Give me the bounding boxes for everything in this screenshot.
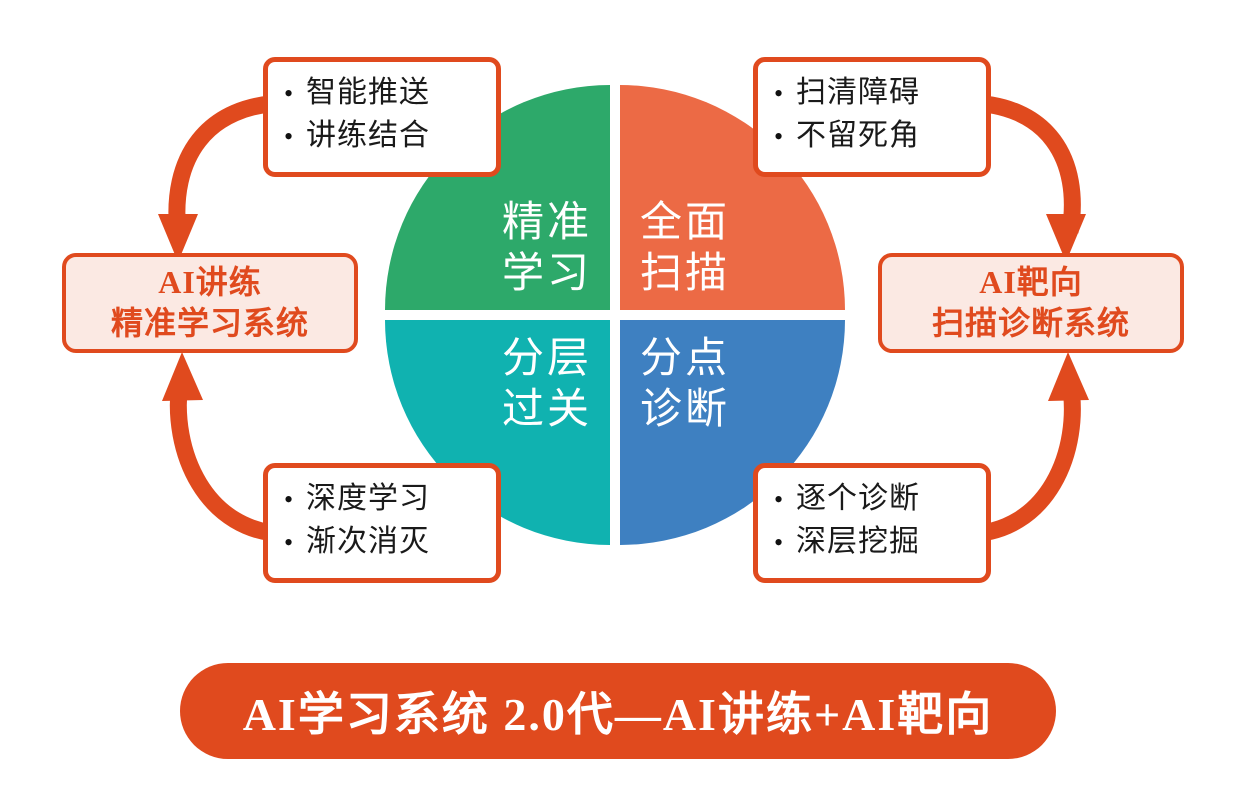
list-item: 渐次消灭 <box>284 521 482 564</box>
list-item: 深层挖掘 <box>774 521 972 564</box>
panel-left-line1: AI讲练 <box>158 262 262 303</box>
callout-bottom-left-list: 深度学习 渐次消灭 <box>284 478 482 563</box>
quadrant-bottom-right-label: 分点 诊断 <box>640 334 730 436</box>
list-item: 扫清障碍 <box>774 72 972 115</box>
title-banner-text: AI学习系统 2.0代—AI讲练+AI靶向 <box>243 678 994 744</box>
panel-right-line1: AI靶向 <box>979 262 1083 303</box>
list-item: 讲练结合 <box>284 115 482 158</box>
callout-bottom-right-list: 逐个诊断 深层挖掘 <box>774 478 972 563</box>
quadrant-top-left-label: 精准 学习 <box>502 198 592 300</box>
callout-top-left[interactable]: 智能推送 讲练结合 <box>263 57 501 177</box>
list-item: 逐个诊断 <box>774 478 972 521</box>
callout-top-right[interactable]: 扫清障碍 不留死角 <box>753 57 991 177</box>
callout-bottom-right[interactable]: 逐个诊断 深层挖掘 <box>753 463 991 583</box>
panel-right-line2: 扫描诊断系统 <box>932 303 1130 344</box>
title-banner: AI学习系统 2.0代—AI讲练+AI靶向 <box>180 663 1056 759</box>
diagram-canvas: 精准 学习 全面 扫描 分层 过关 分点 诊断 智能推送 讲练结合 扫清障碍 不… <box>0 0 1235 812</box>
callout-bottom-left[interactable]: 深度学习 渐次消灭 <box>263 463 501 583</box>
callout-top-left-list: 智能推送 讲练结合 <box>284 72 482 157</box>
list-item: 深度学习 <box>284 478 482 521</box>
quadrant-top-right-label: 全面 扫描 <box>640 198 730 300</box>
list-item: 不留死角 <box>774 115 972 158</box>
callout-top-right-list: 扫清障碍 不留死角 <box>774 72 972 157</box>
panel-ai-targeting-system[interactable]: AI靶向 扫描诊断系统 <box>878 253 1184 353</box>
list-item: 智能推送 <box>284 72 482 115</box>
quadrant-bottom-left-label: 分层 过关 <box>502 334 592 436</box>
panel-ai-training-system[interactable]: AI讲练 精准学习系统 <box>62 253 358 353</box>
panel-left-line2: 精准学习系统 <box>111 303 309 344</box>
